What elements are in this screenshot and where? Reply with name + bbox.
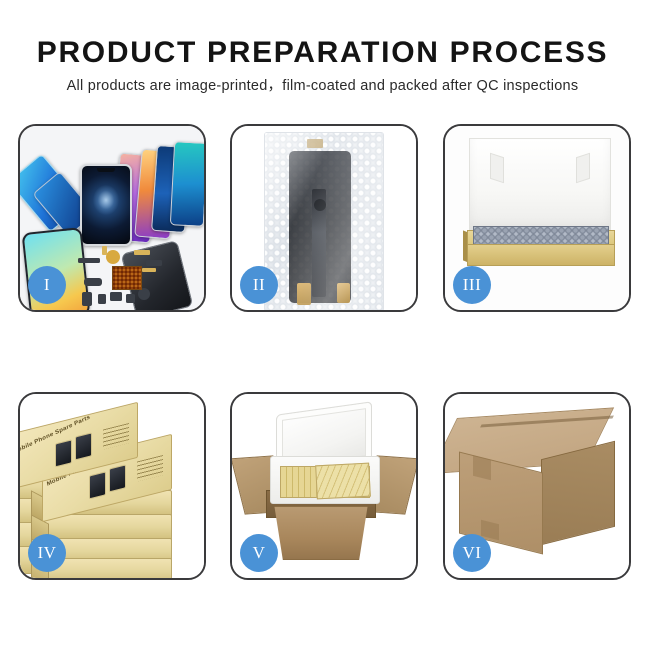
step-panel-2[interactable]: II xyxy=(230,124,418,312)
step-panel-1[interactable]: I xyxy=(18,124,206,312)
step-panel-3[interactable]: III xyxy=(443,124,631,312)
step-badge-1: I xyxy=(28,266,66,304)
step-badge-4: IV xyxy=(28,534,66,572)
step-panel-4[interactable]: Mobile Phone Spare Parts Mobile Phone Sp… xyxy=(18,392,206,580)
step-badge-6: VI xyxy=(453,534,491,572)
step-panel-6[interactable]: VI xyxy=(443,392,631,580)
step-badge-3: III xyxy=(453,266,491,304)
process-steps-grid: I II xyxy=(0,0,645,645)
step-badge-5: V xyxy=(240,534,278,572)
step-panel-5[interactable]: V xyxy=(230,392,418,580)
step-badge-2: II xyxy=(240,266,278,304)
